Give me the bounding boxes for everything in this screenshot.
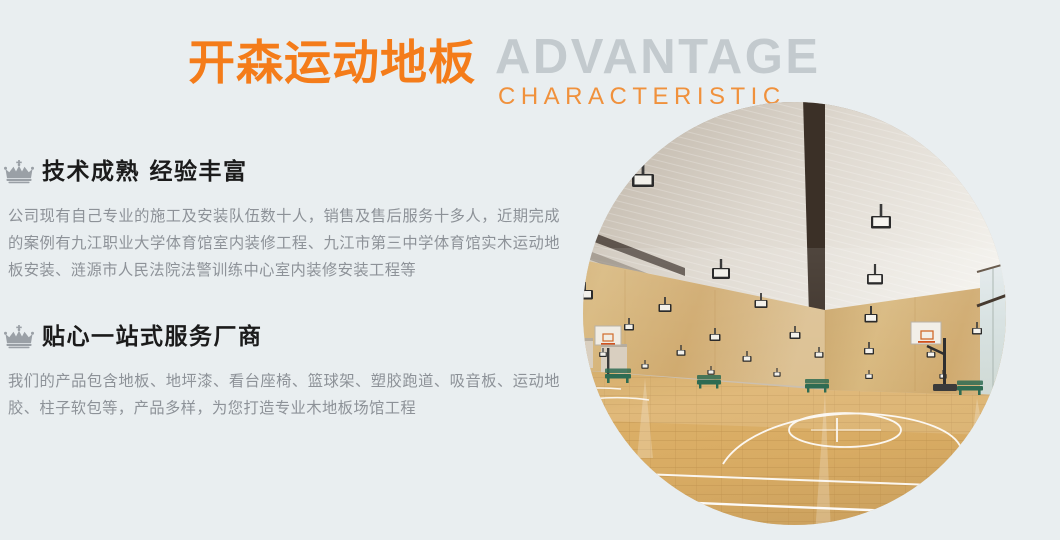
- crown-icon: [4, 160, 34, 184]
- crown-icon: [4, 325, 34, 349]
- header-title-en: ADVANTAGE: [495, 33, 821, 82]
- feature-body: 我们的产品包含地板、地坪漆、看台座椅、篮球架、塑胶跑道、吸音板、运动地胶、柱子软…: [0, 368, 560, 422]
- gym-illustration: [583, 102, 1006, 525]
- feature-heading-row: 贴心一站式服务厂商: [0, 320, 580, 354]
- feature-heading-row: 技术成熟 经验丰富: [0, 155, 580, 189]
- header-title-cn: 开森运动地板: [188, 40, 476, 87]
- feature-list: 技术成熟 经验丰富 公司现有自己专业的施工及安装队伍数十人，销售及售后服务十多人…: [0, 155, 580, 422]
- advantage-section: 开森运动地板 ADVANTAGE CHARACTERISTIC: [0, 0, 1060, 540]
- feature-title: 技术成熟 经验丰富: [42, 161, 248, 184]
- feature-item: 技术成熟 经验丰富 公司现有自己专业的施工及安装队伍数十人，销售及售后服务十多人…: [0, 155, 580, 284]
- feature-item: 贴心一站式服务厂商 我们的产品包含地板、地坪漆、看台座椅、篮球架、塑胶跑道、吸音…: [0, 320, 580, 422]
- feature-body: 公司现有自己专业的施工及安装队伍数十人，销售及售后服务十多人，近期完成的案例有九…: [0, 203, 560, 284]
- basketball-gymnasium-photo: [583, 102, 1006, 525]
- feature-title: 贴心一站式服务厂商: [42, 326, 263, 349]
